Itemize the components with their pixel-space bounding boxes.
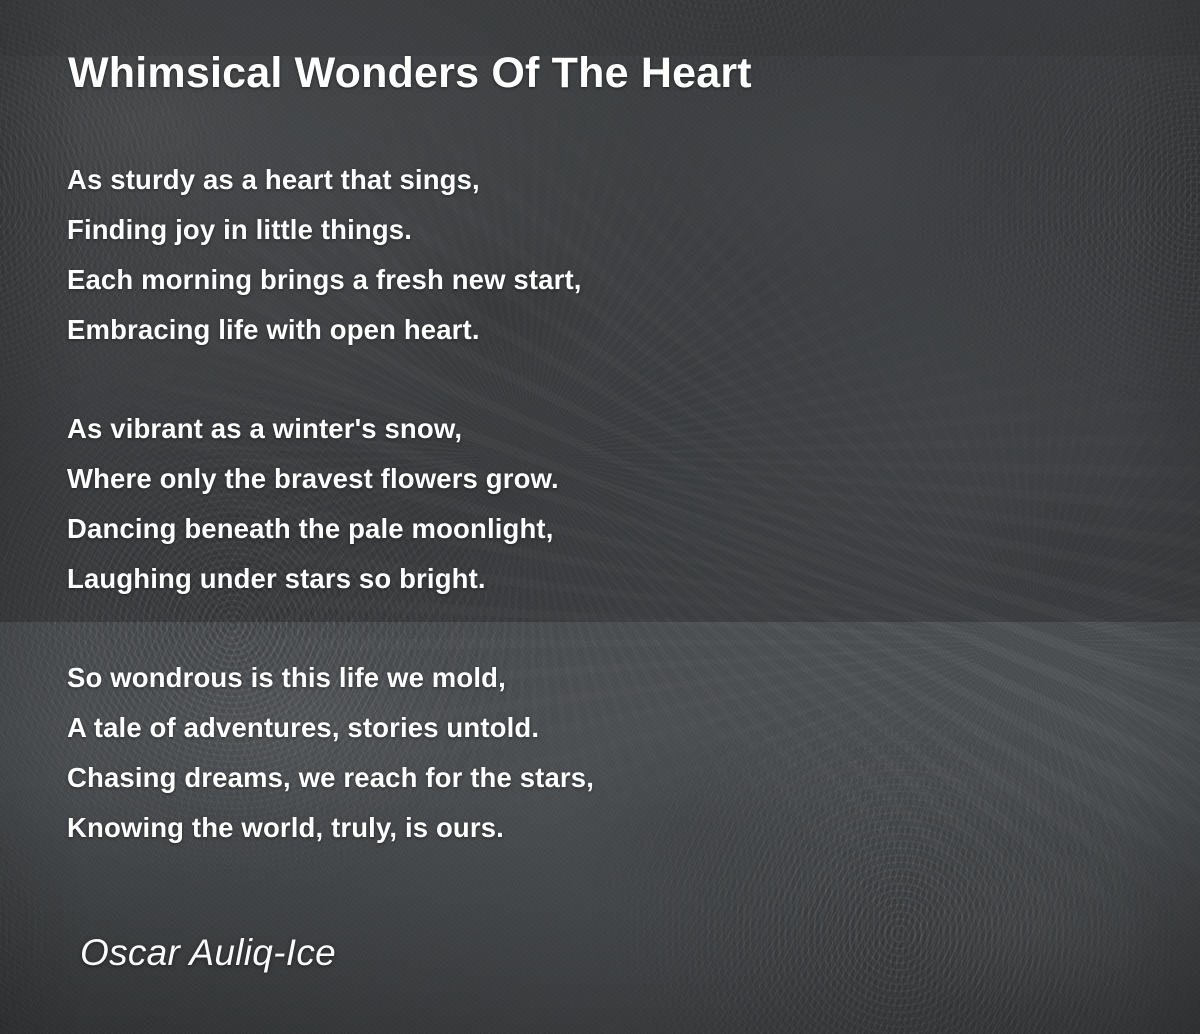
poem-line: So wondrous is this life we mold, bbox=[67, 653, 1067, 703]
poem-line: Embracing life with open heart. bbox=[67, 305, 1067, 355]
poem-line: Each morning brings a fresh new start, bbox=[67, 255, 1067, 305]
poem-line: Finding joy in little things. bbox=[67, 205, 1067, 255]
poem-content: Whimsical Wonders Of The Heart As sturdy… bbox=[0, 0, 1200, 1034]
poem-author-signature: Oscar Auliq-Ice bbox=[80, 932, 336, 974]
poem-line: As sturdy as a heart that sings, bbox=[67, 155, 1067, 205]
poem-line: Laughing under stars so bright. bbox=[67, 554, 1067, 604]
poem-line: A tale of adventures, stories untold. bbox=[67, 703, 1067, 753]
poem-stanza: As sturdy as a heart that sings, Finding… bbox=[67, 155, 1067, 355]
poem-image-card: Whimsical Wonders Of The Heart As sturdy… bbox=[0, 0, 1200, 1034]
poem-stanza: So wondrous is this life we mold, A tale… bbox=[67, 653, 1067, 853]
poem-line: Where only the bravest flowers grow. bbox=[67, 454, 1067, 504]
poem-line: Chasing dreams, we reach for the stars, bbox=[67, 753, 1067, 803]
poem-body: As sturdy as a heart that sings, Finding… bbox=[67, 155, 1067, 853]
poem-line: Knowing the world, truly, is ours. bbox=[67, 803, 1067, 853]
poem-title: Whimsical Wonders Of The Heart bbox=[68, 49, 752, 98]
poem-line: As vibrant as a winter's snow, bbox=[67, 404, 1067, 454]
poem-line: Dancing beneath the pale moonlight, bbox=[67, 504, 1067, 554]
poem-stanza: As vibrant as a winter's snow, Where onl… bbox=[67, 404, 1067, 604]
